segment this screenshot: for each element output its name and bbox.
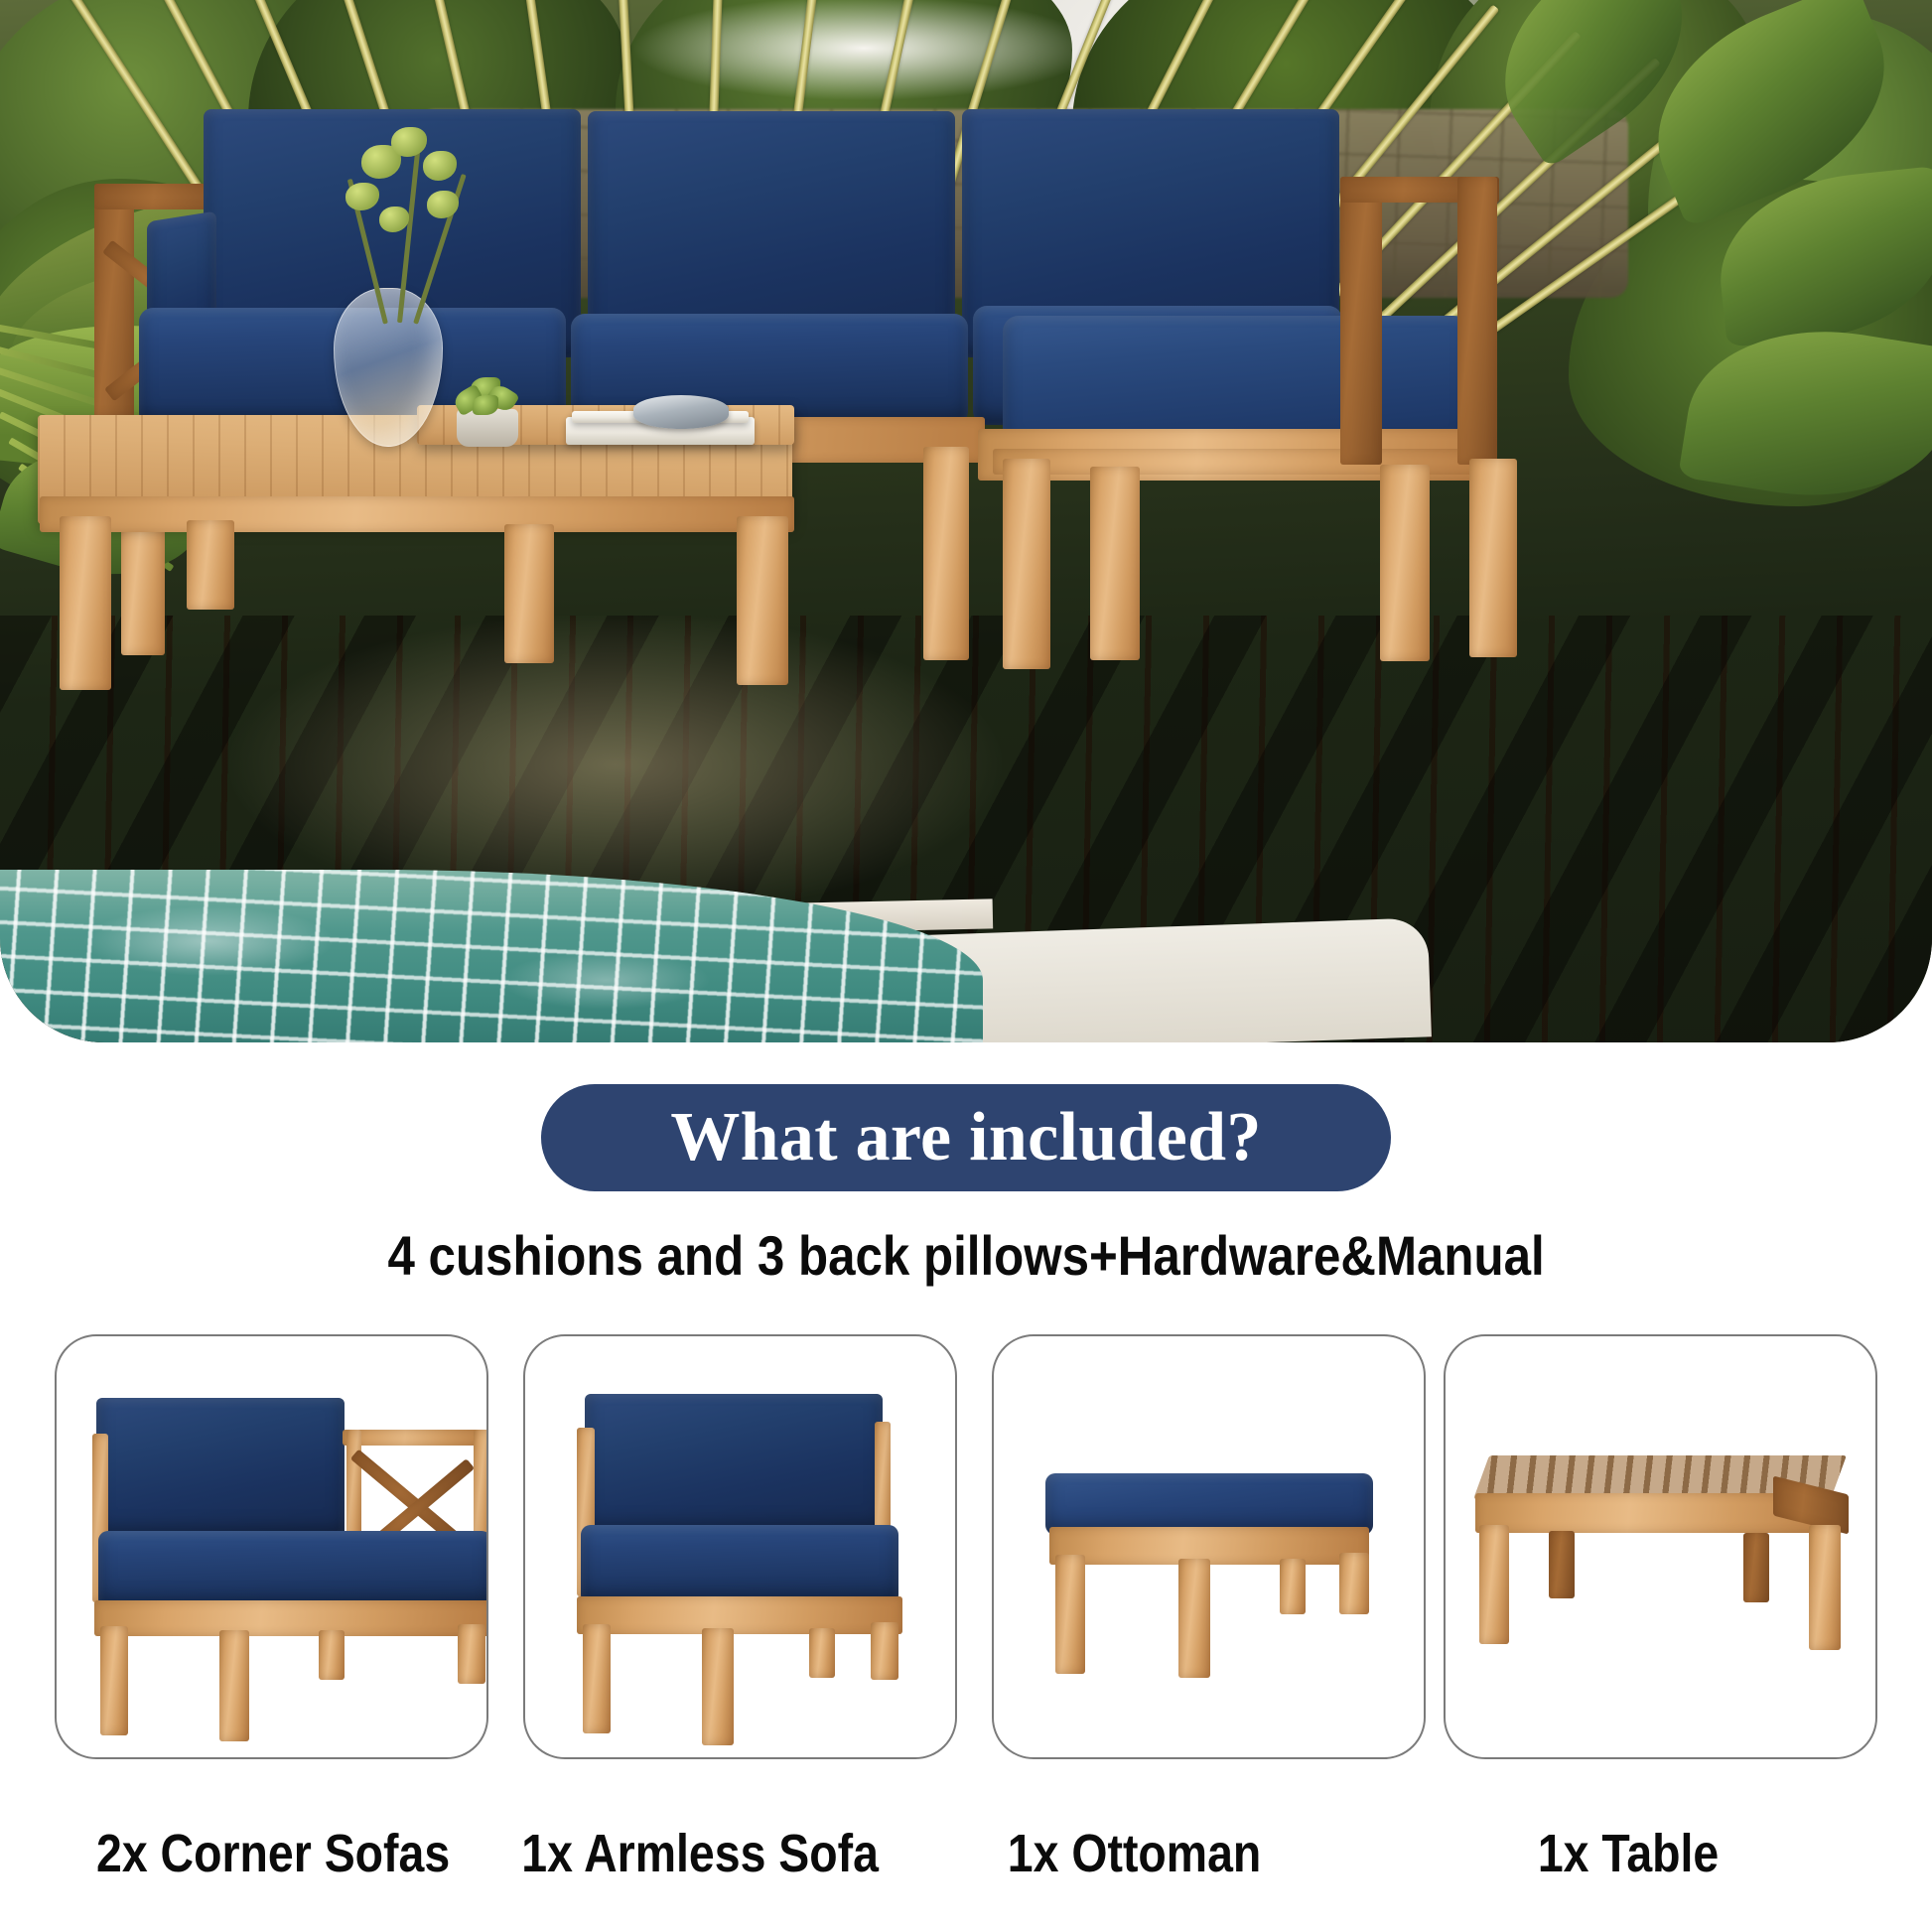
item-labels: 2x Corner Sofas 1x Armless Sofa 1x Ottom…	[0, 1823, 1932, 1912]
included-badge-wrap: What are included?	[0, 1084, 1932, 1191]
item-label-table: 1x Table	[1395, 1823, 1862, 1884]
item-card-armless-sofa[interactable]	[523, 1334, 957, 1759]
table-thumbnail	[1446, 1336, 1875, 1757]
armless-sofa-thumbnail	[525, 1336, 955, 1757]
item-card-table[interactable]	[1444, 1334, 1877, 1759]
included-subtitle: 4 cushions and 3 back pillows+Hardware&M…	[387, 1223, 1544, 1288]
item-label-ottoman: 1x Ottoman	[901, 1823, 1368, 1884]
ottoman-thumbnail	[994, 1336, 1424, 1757]
item-label-armless-sofa: 1x Armless Sofa	[467, 1823, 933, 1884]
included-subtitle-wrap: 4 cushions and 3 back pillows+Hardware&M…	[0, 1223, 1932, 1288]
included-items-gallery	[0, 1334, 1932, 1761]
corner-sofa-thumbnail	[57, 1336, 486, 1757]
hero-product-photo	[0, 0, 1932, 1042]
item-card-corner-sofa[interactable]	[55, 1334, 488, 1759]
product-infographic: What are included? 4 cushions and 3 back…	[0, 0, 1932, 1932]
item-card-ottoman[interactable]	[992, 1334, 1426, 1759]
item-label-corner-sofa: 2x Corner Sofas	[40, 1823, 506, 1884]
swimming-pool	[0, 870, 983, 1042]
included-badge: What are included?	[541, 1084, 1391, 1191]
